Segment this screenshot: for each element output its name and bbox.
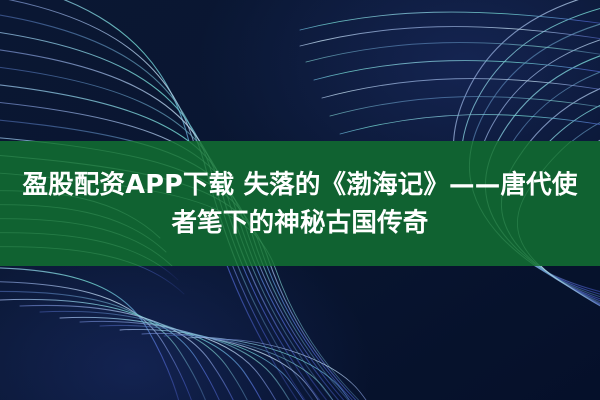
headline-text: 盈股配资APP下载 失落的《渤海记》——唐代使 者笔下的神秘古国传奇 (0, 141, 600, 266)
headline-line-1: 盈股配资APP下载 失落的《渤海记》——唐代使 (22, 166, 577, 204)
banner-image: 盈股配资APP下载 失落的《渤海记》——唐代使 者笔下的神秘古国传奇 (0, 0, 600, 400)
headline-line-2: 者笔下的神秘古国传奇 (171, 204, 428, 242)
